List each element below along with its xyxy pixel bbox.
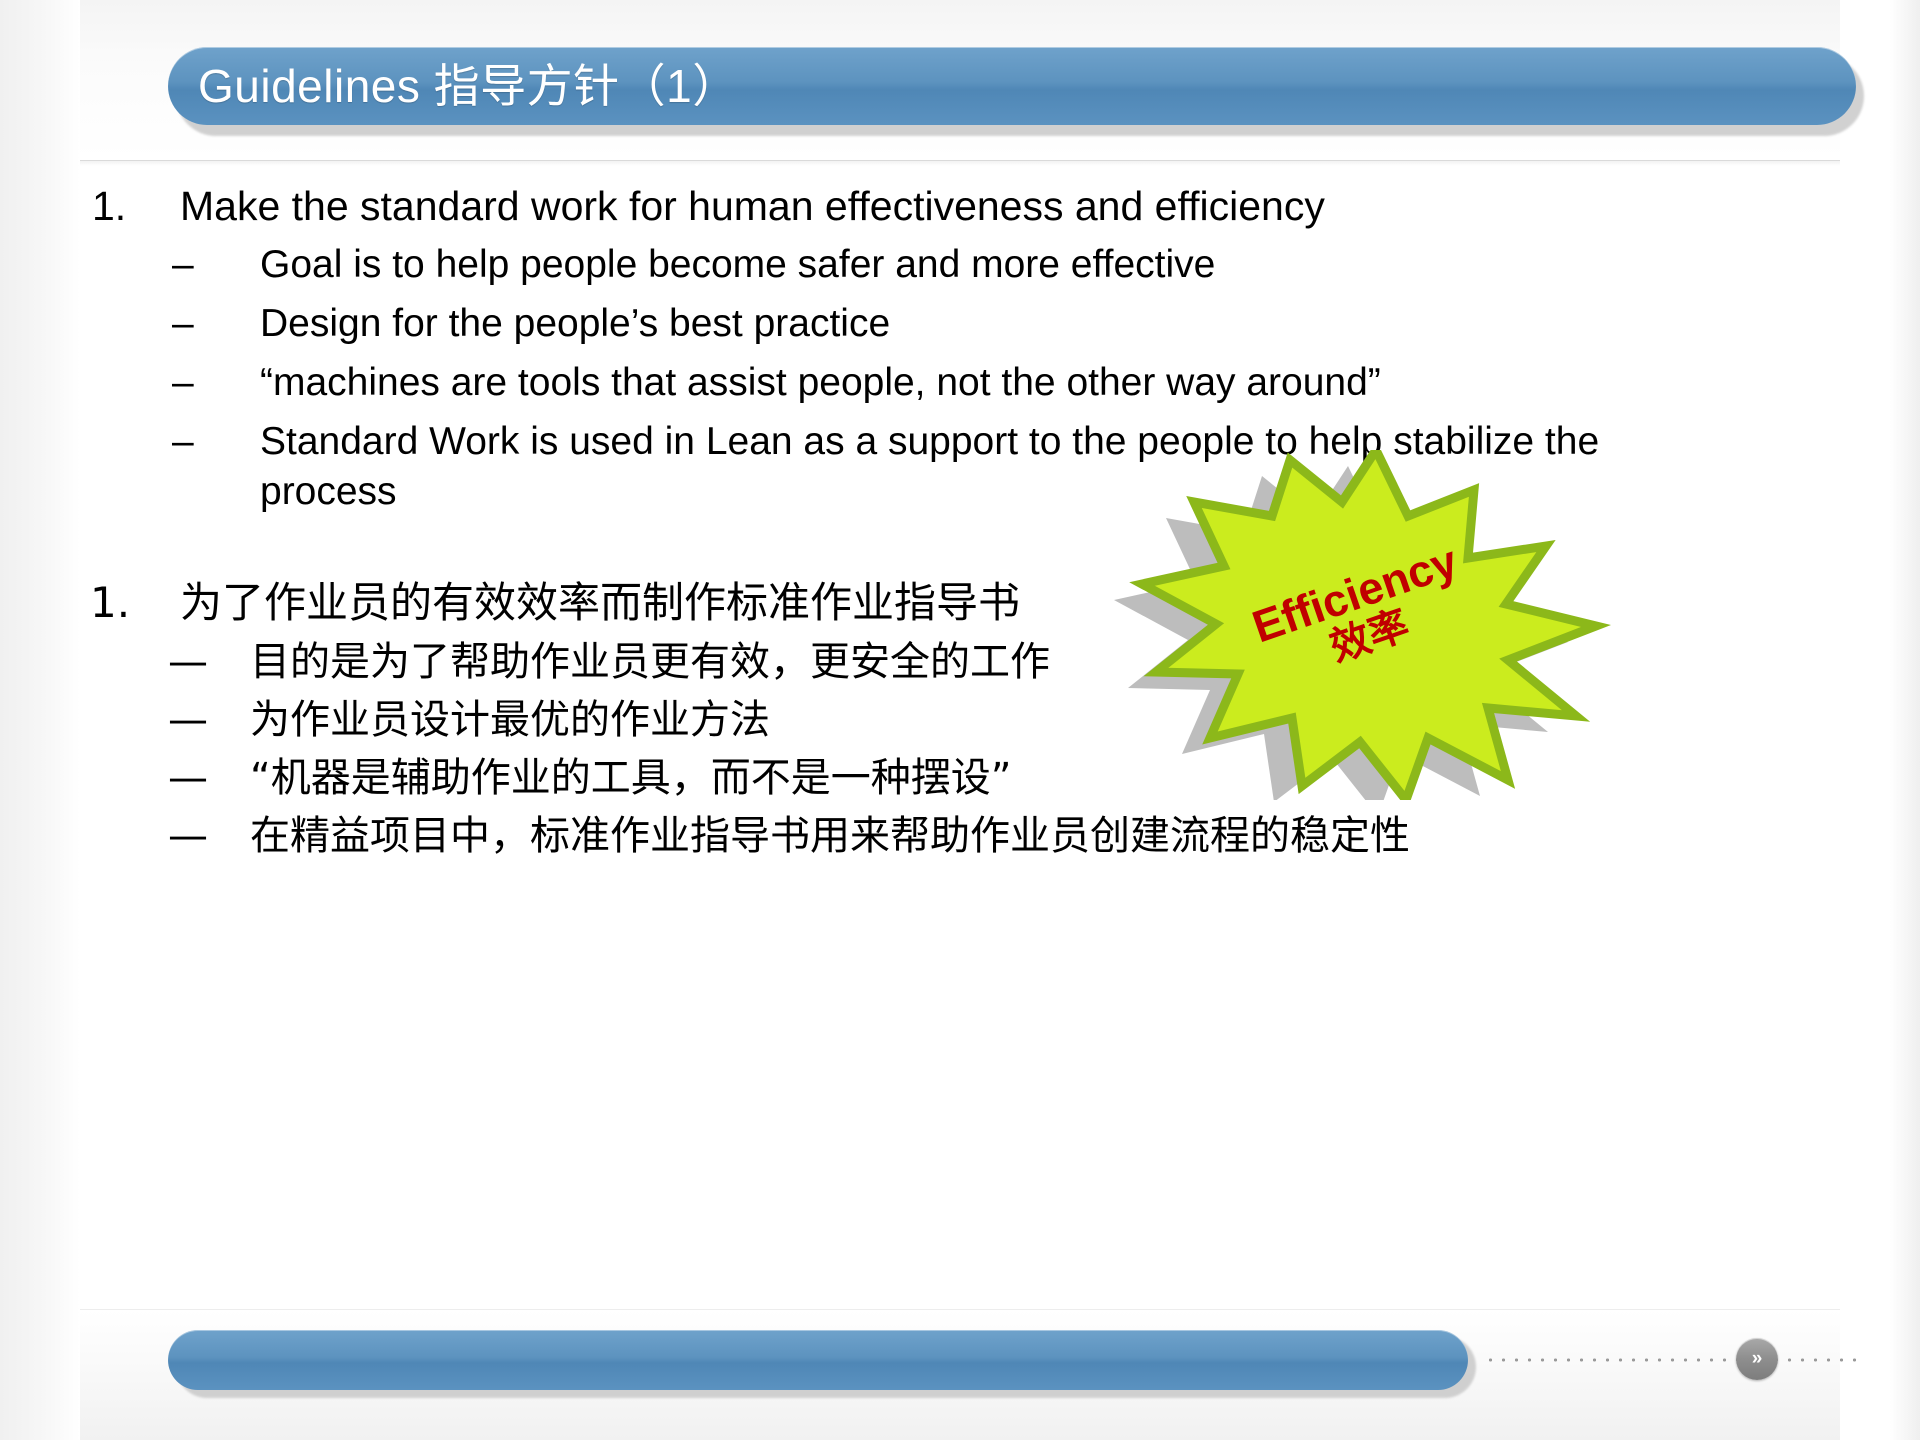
next-slide-button[interactable]: » — [1736, 1338, 1778, 1380]
list-marker: 1. — [80, 180, 180, 232]
footer-dotted-rule — [1484, 1357, 1864, 1363]
efficiency-callout: Efficiency 效率 — [1062, 450, 1622, 800]
list-item: – Design for the people’s best practice — [80, 299, 1870, 350]
list-item-label: Make the standard work for human effecti… — [180, 180, 1870, 232]
slide-left-edge-decor — [0, 0, 80, 1440]
list-marker: — — [80, 810, 250, 862]
slide-right-edge-decor — [1890, 0, 1920, 1440]
list-marker: — — [80, 752, 250, 804]
list-marker: – — [80, 240, 260, 291]
list-item: — 在精益项目中，标准作业指导书用来帮助作业员创建流程的稳定性 — [80, 810, 1870, 862]
list-marker: — — [80, 636, 250, 688]
list-item-label: “machines are tools that assist people, … — [260, 358, 1660, 409]
list-marker: — — [80, 694, 250, 746]
list-marker: – — [80, 299, 260, 350]
list-item: 1. Make the standard work for human effe… — [80, 180, 1870, 232]
page-title: Guidelines 指导方针（1） — [198, 63, 739, 109]
list-marker: 1. — [80, 576, 180, 630]
title-pill: Guidelines 指导方针（1） — [168, 47, 1856, 125]
list-item-label: 在精益项目中，标准作业指导书用来帮助作业员创建流程的稳定性 — [250, 810, 1650, 862]
footer-pill — [168, 1330, 1468, 1390]
list-item: – “machines are tools that assist people… — [80, 358, 1870, 409]
slide-footer: » — [80, 1309, 1840, 1440]
list-item: – Goal is to help people become safer an… — [80, 240, 1870, 291]
slide-header: Guidelines 指导方针（1） — [80, 0, 1840, 161]
list-item-label: Design for the people’s best practice — [260, 299, 1660, 350]
list-marker: – — [80, 417, 260, 468]
slide-canvas: Guidelines 指导方针（1） 1. Make the standard … — [0, 0, 1920, 1440]
list-item-label: Goal is to help people become safer and … — [260, 240, 1660, 291]
list-marker: – — [80, 358, 260, 409]
starburst-icon — [1062, 450, 1622, 800]
